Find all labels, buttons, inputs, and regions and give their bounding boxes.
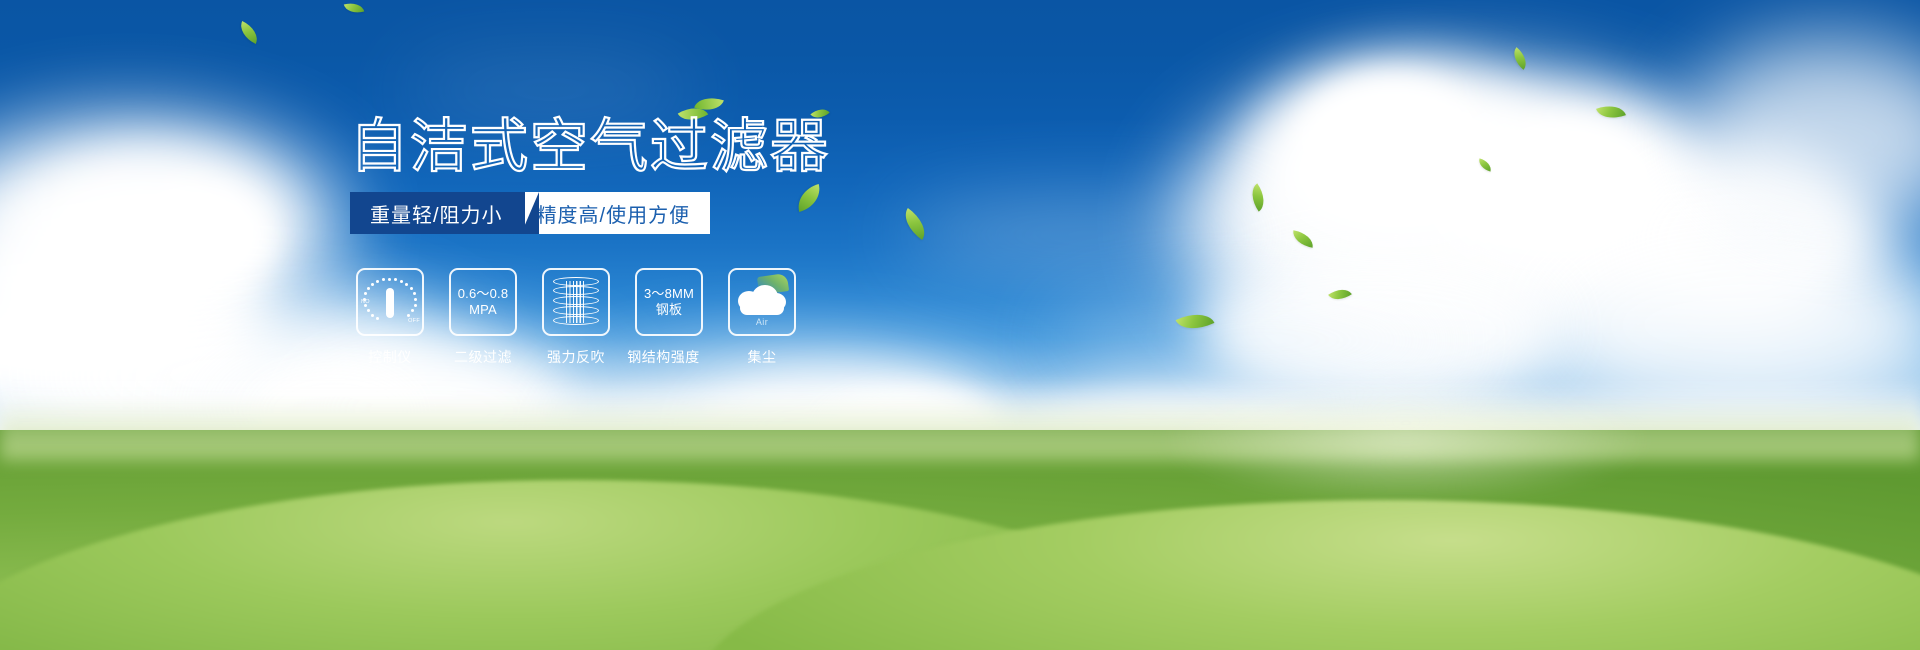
feature-item-control[interactable]: NO OFF 控制仪 <box>356 268 424 367</box>
tab-weight-resistance[interactable]: 重量轻/阻力小 <box>350 192 525 234</box>
feature-list: NO OFF 控制仪 0.6～0.8 MPA 二级过滤 <box>356 268 796 367</box>
page-title: 自洁式空气过滤器 <box>350 116 830 176</box>
air-cloud-icon: Air <box>734 279 790 325</box>
feature-caption: 钢结构强度 <box>619 347 709 367</box>
subtitle-tabs: 重量轻/阻力小 精度高/使用方便 <box>350 192 710 234</box>
feature-box: NO OFF <box>356 268 424 336</box>
feature-item-pressure[interactable]: 0.6～0.8 MPA 二级过滤 <box>449 268 517 367</box>
feature-box <box>542 268 610 336</box>
hero-banner: 自洁式空气过滤器 重量轻/阻力小 精度高/使用方便 <box>0 0 1920 650</box>
feature-caption: 控制仪 <box>368 347 412 367</box>
steel-plate-text-icon: 3～8MM 钢板 <box>637 286 701 318</box>
feature-box: 3～8MM 钢板 <box>635 268 703 336</box>
pressure-text-icon: 0.6～0.8 MPA <box>451 286 515 318</box>
control-dial-icon: NO OFF <box>362 277 418 327</box>
feature-item-dust[interactable]: Air 集尘 <box>728 268 796 367</box>
air-label: Air <box>734 317 790 327</box>
tab-precision-usability[interactable]: 精度高/使用方便 <box>511 192 711 234</box>
feature-item-backblow[interactable]: 强力反吹 <box>542 268 610 367</box>
feature-caption: 强力反吹 <box>547 347 605 367</box>
dial-on-label: NO <box>361 299 370 305</box>
banner-content: 自洁式空气过滤器 重量轻/阻力小 精度高/使用方便 <box>0 0 1920 650</box>
feature-box: Air <box>728 268 796 336</box>
feature-item-steel[interactable]: 3～8MM 钢板 钢结构强度 <box>635 268 703 367</box>
feature-caption: 二级过滤 <box>454 347 512 367</box>
feature-box: 0.6～0.8 MPA <box>449 268 517 336</box>
filter-coil-icon <box>553 277 599 327</box>
dial-off-label: OFF <box>408 318 420 324</box>
feature-caption: 集尘 <box>748 347 777 367</box>
